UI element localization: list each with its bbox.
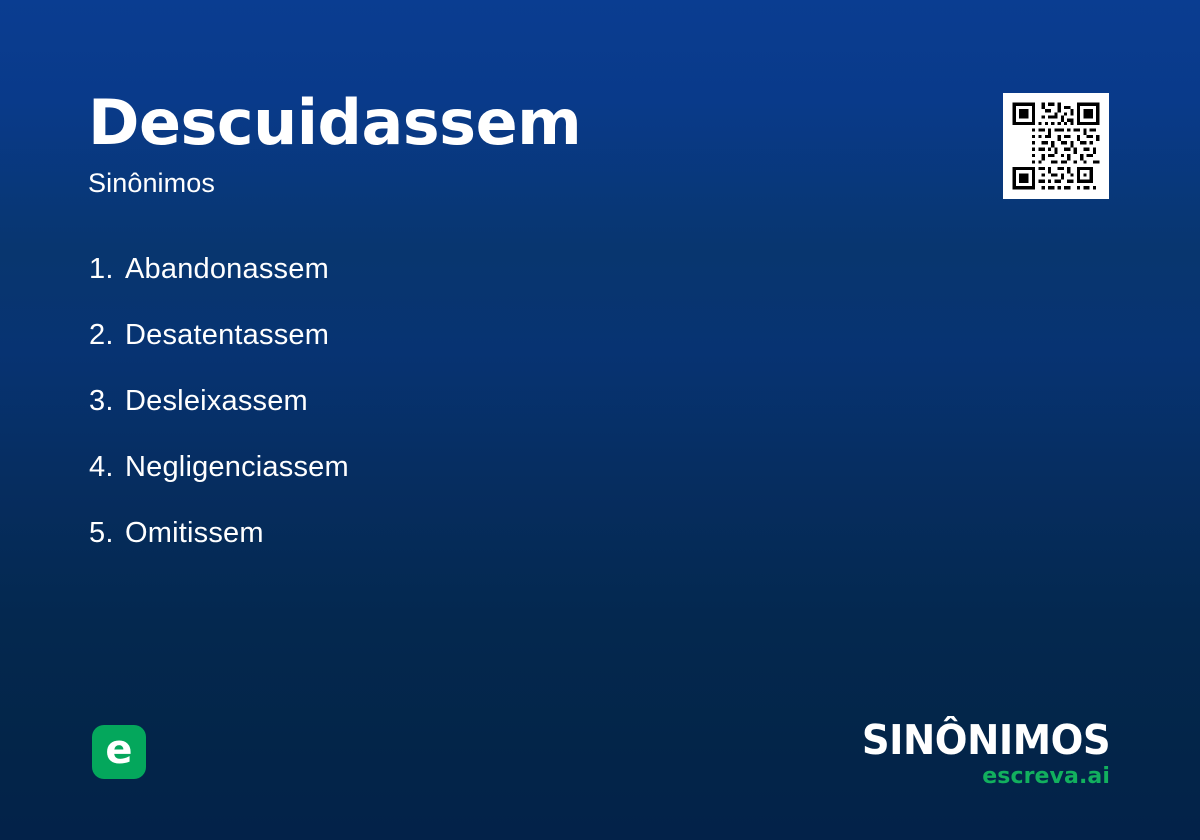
list-item: 1. Abandonassem xyxy=(89,236,929,302)
list-item: 2. Desatentassem xyxy=(89,302,929,368)
list-item-index: 4. xyxy=(89,451,125,484)
list-item-word: Negligenciassem xyxy=(125,451,349,484)
list-item-index: 3. xyxy=(89,385,125,418)
list-item: 4. Negligenciassem xyxy=(89,434,929,500)
list-item-index: 5. xyxy=(89,517,125,550)
synonym-list: 1. Abandonassem 2. Desatentassem 3. Desl… xyxy=(89,236,929,566)
brand-wordmark: SINÔNIMOS escreva.ai xyxy=(846,720,1110,788)
brand-wordmark-main: SINÔNIMOS xyxy=(862,720,1110,761)
list-item-word: Desleixassem xyxy=(125,385,308,418)
list-item-word: Omitissem xyxy=(125,517,264,550)
title-block: Descuidassem Sinônimos xyxy=(88,88,948,198)
page-title: Descuidassem xyxy=(88,88,948,158)
synonym-card: Descuidassem Sinônimos 1. Abandonassem 2… xyxy=(0,0,1200,840)
page-subtitle: Sinônimos xyxy=(88,168,948,198)
brand-wordmark-sub: escreva.ai xyxy=(846,766,1110,788)
list-item-index: 2. xyxy=(89,319,125,352)
brand-mark-letter: e xyxy=(105,730,132,770)
list-item: 3. Desleixassem xyxy=(89,368,929,434)
list-item-index: 1. xyxy=(89,253,125,286)
list-item-word: Abandonassem xyxy=(125,253,329,286)
escreva-e-logo-icon[interactable]: e xyxy=(92,725,146,779)
qr-code-icon[interactable] xyxy=(1003,93,1109,199)
list-item-word: Desatentassem xyxy=(125,319,329,352)
list-item: 5. Omitissem xyxy=(89,500,929,566)
